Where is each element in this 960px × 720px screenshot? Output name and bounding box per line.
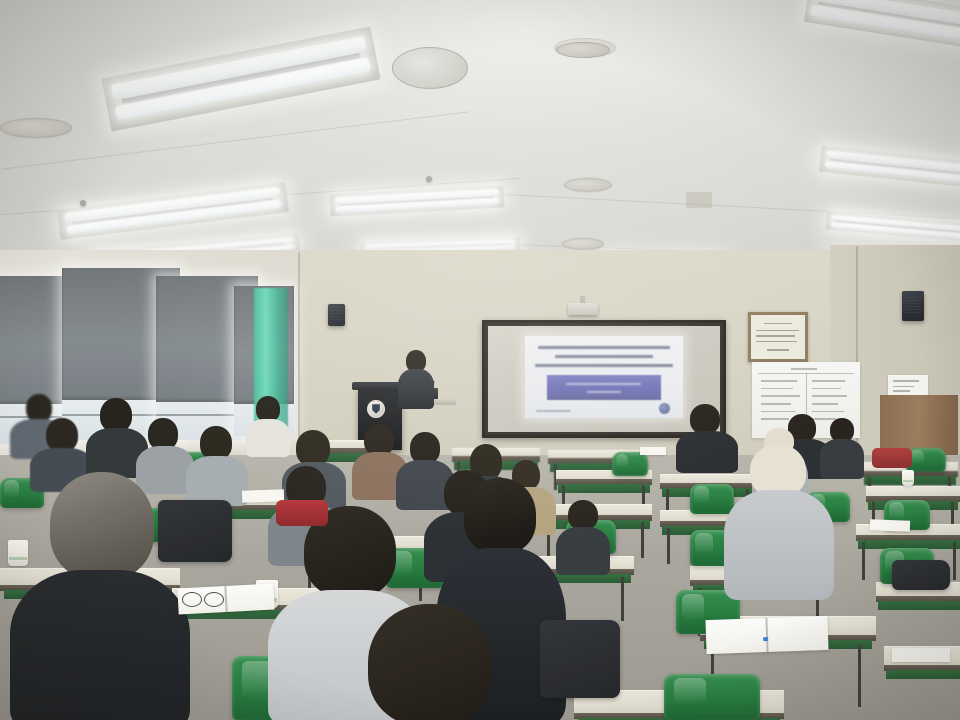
ceiling-vent-5 [0, 118, 72, 138]
sprinkler-head-2 [80, 200, 86, 206]
fluorescent-troffer-2 [57, 182, 289, 240]
classroom-chair[interactable] [612, 452, 648, 476]
fluorescent-troffer-1 [101, 26, 380, 131]
ceiling-vent-6 [562, 238, 604, 250]
open-book-1[interactable] [705, 616, 828, 654]
attendee [186, 426, 248, 502]
lecture-hall-photo [0, 0, 960, 720]
presenter [398, 350, 438, 412]
slide-subtitle-panel [547, 375, 661, 400]
classroom-desk [866, 486, 960, 497]
paper-cup-1[interactable] [8, 540, 28, 566]
sprinkler-head-1 [426, 176, 432, 182]
ceiling-projector [568, 303, 598, 315]
classroom-chair[interactable] [906, 448, 946, 472]
paper-cup-3[interactable] [902, 470, 914, 486]
handout-paper[interactable] [870, 519, 910, 531]
backpack-1[interactable] [158, 500, 232, 562]
fluorescent-troffer-4 [804, 0, 960, 50]
eyeglasses-on-notebook[interactable] [182, 592, 202, 607]
framed-plaque [748, 312, 808, 362]
slide-title-line-3 [535, 364, 674, 367]
eyeglasses-on-notebook[interactable] [204, 592, 224, 607]
slide-title-line-1 [538, 346, 671, 349]
bag-2[interactable] [540, 620, 620, 698]
wall-speaker-right [902, 291, 924, 321]
bag-3[interactable] [892, 560, 950, 590]
handout-paper[interactable] [640, 447, 666, 455]
wall-speaker-left [328, 304, 345, 326]
fluorescent-troffer-5 [819, 146, 960, 189]
classroom-chair[interactable] [664, 674, 760, 720]
attendee [724, 444, 834, 594]
university-crest [367, 400, 385, 418]
red-jacket-on-chair [276, 500, 328, 526]
handout-paper[interactable] [892, 648, 950, 662]
ceiling-vent-1 [392, 47, 468, 89]
slide-emblem [659, 403, 670, 414]
ceiling-vent-3 [556, 42, 610, 58]
ceiling-access-panel [686, 192, 712, 208]
slide-title-line-2 [555, 355, 653, 358]
attendee-foreground-bottom [328, 604, 528, 720]
red-jacket-on-chair-2 [872, 448, 912, 468]
projected-slide [525, 336, 683, 419]
room-sign [888, 375, 928, 397]
ceiling-vent-4 [564, 178, 612, 192]
slide-footer [536, 410, 571, 412]
presenter-torso [398, 369, 434, 409]
